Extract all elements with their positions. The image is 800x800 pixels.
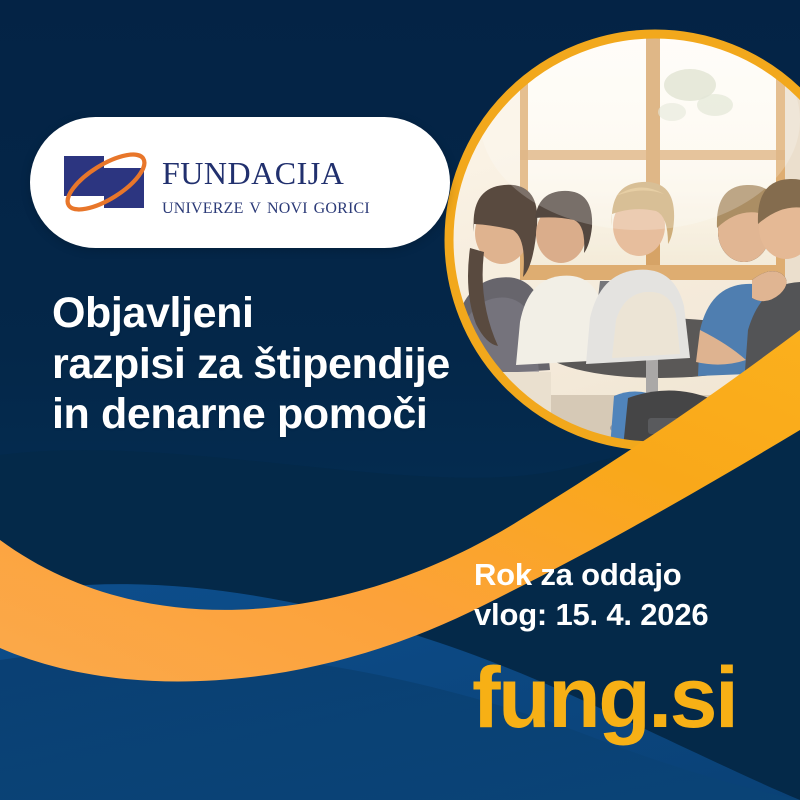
deadline-text: Rok za oddajo vlog: 15. 4. 2026: [474, 555, 708, 634]
promotional-poster: Fundacija Univerze v Novi Gorici Objavlj…: [0, 0, 800, 800]
fundacija-logo[interactable]: Fundacija Univerze v Novi Gorici: [30, 117, 450, 248]
website-label[interactable]: fung.si: [472, 655, 736, 741]
fundacija-wordmark: Fundacija Univerze v Novi Gorici: [162, 147, 370, 218]
fundacija-logo-mark: [60, 140, 152, 226]
headline: Objavljeni razpisi za štipendije in dena…: [52, 288, 450, 440]
logo-subtitle: Univerze v Novi Gorici: [162, 195, 370, 218]
logo-title: Fundacija: [162, 147, 370, 192]
